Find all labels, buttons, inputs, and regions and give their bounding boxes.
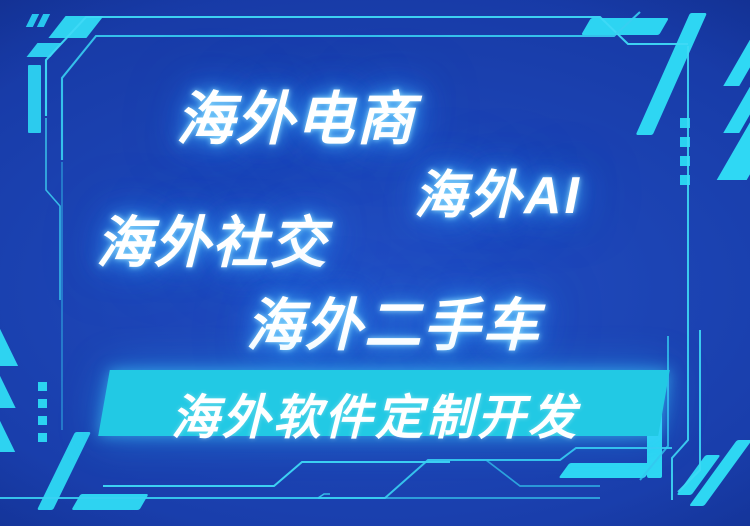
headline-ecommerce: 海外电商	[176, 72, 416, 156]
banner-label: 海外软件定制开发	[0, 378, 750, 448]
headline-ai: 海外AI	[414, 153, 582, 228]
headline-used-car: 海外二手车	[246, 280, 541, 362]
headline-social: 海外社交	[96, 198, 328, 279]
poster-root: 海外电商 海外AI 海外社交 海外二手车 海外软件定制开发	[0, 0, 750, 526]
